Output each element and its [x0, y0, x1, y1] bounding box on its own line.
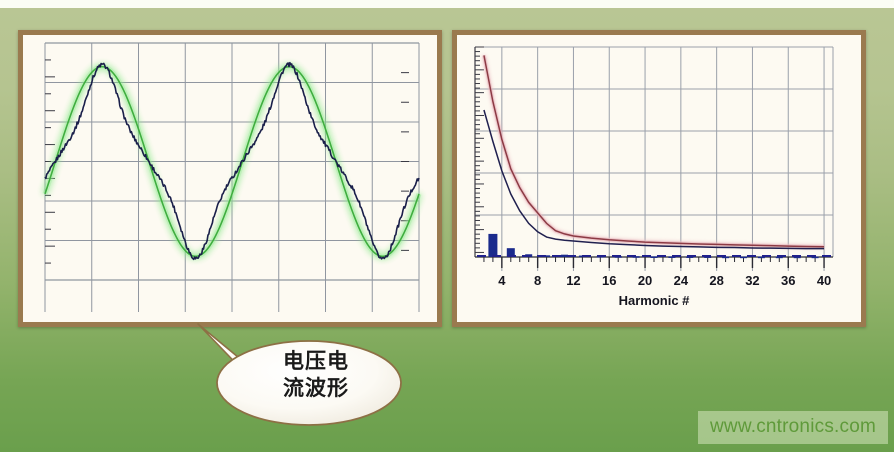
harmonic-xtick-label: 24: [674, 273, 689, 288]
harmonic-xtick-label: 8: [534, 273, 541, 288]
callout-shape: [196, 318, 411, 430]
site-watermark: www.cntronics.com: [698, 411, 888, 444]
harmonic-panel: 481216202428323640 Harmonic #: [452, 30, 866, 327]
harmonic-chart: 481216202428323640 Harmonic #: [457, 35, 861, 322]
waveform-panel-inner: [23, 35, 437, 322]
harmonic-xtick-label: 4: [498, 273, 506, 288]
harmonic-xtick-label: 20: [638, 273, 652, 288]
harmonic-plot-bg: [457, 35, 861, 322]
slide-canvas: 481216202428323640 Harmonic # 电压电 流波形 ww…: [0, 0, 894, 452]
harmonic-xtick-label: 40: [817, 273, 831, 288]
harmonic-xtick-label: 28: [709, 273, 723, 288]
harmonic-panel-inner: 481216202428323640 Harmonic #: [457, 35, 861, 322]
waveform-chart: [23, 35, 437, 322]
harmonic-xtick-label: 32: [745, 273, 759, 288]
callout-bubble: 电压电 流波形: [196, 318, 411, 430]
harmonic-xtick-label: 36: [781, 273, 795, 288]
harmonic-xtick-label: 16: [602, 273, 616, 288]
harmonic-axis-title: Harmonic #: [619, 293, 691, 308]
harmonic-xtick-label: 12: [566, 273, 580, 288]
waveform-panel: [18, 30, 442, 327]
callout-ellipse: [217, 341, 401, 425]
